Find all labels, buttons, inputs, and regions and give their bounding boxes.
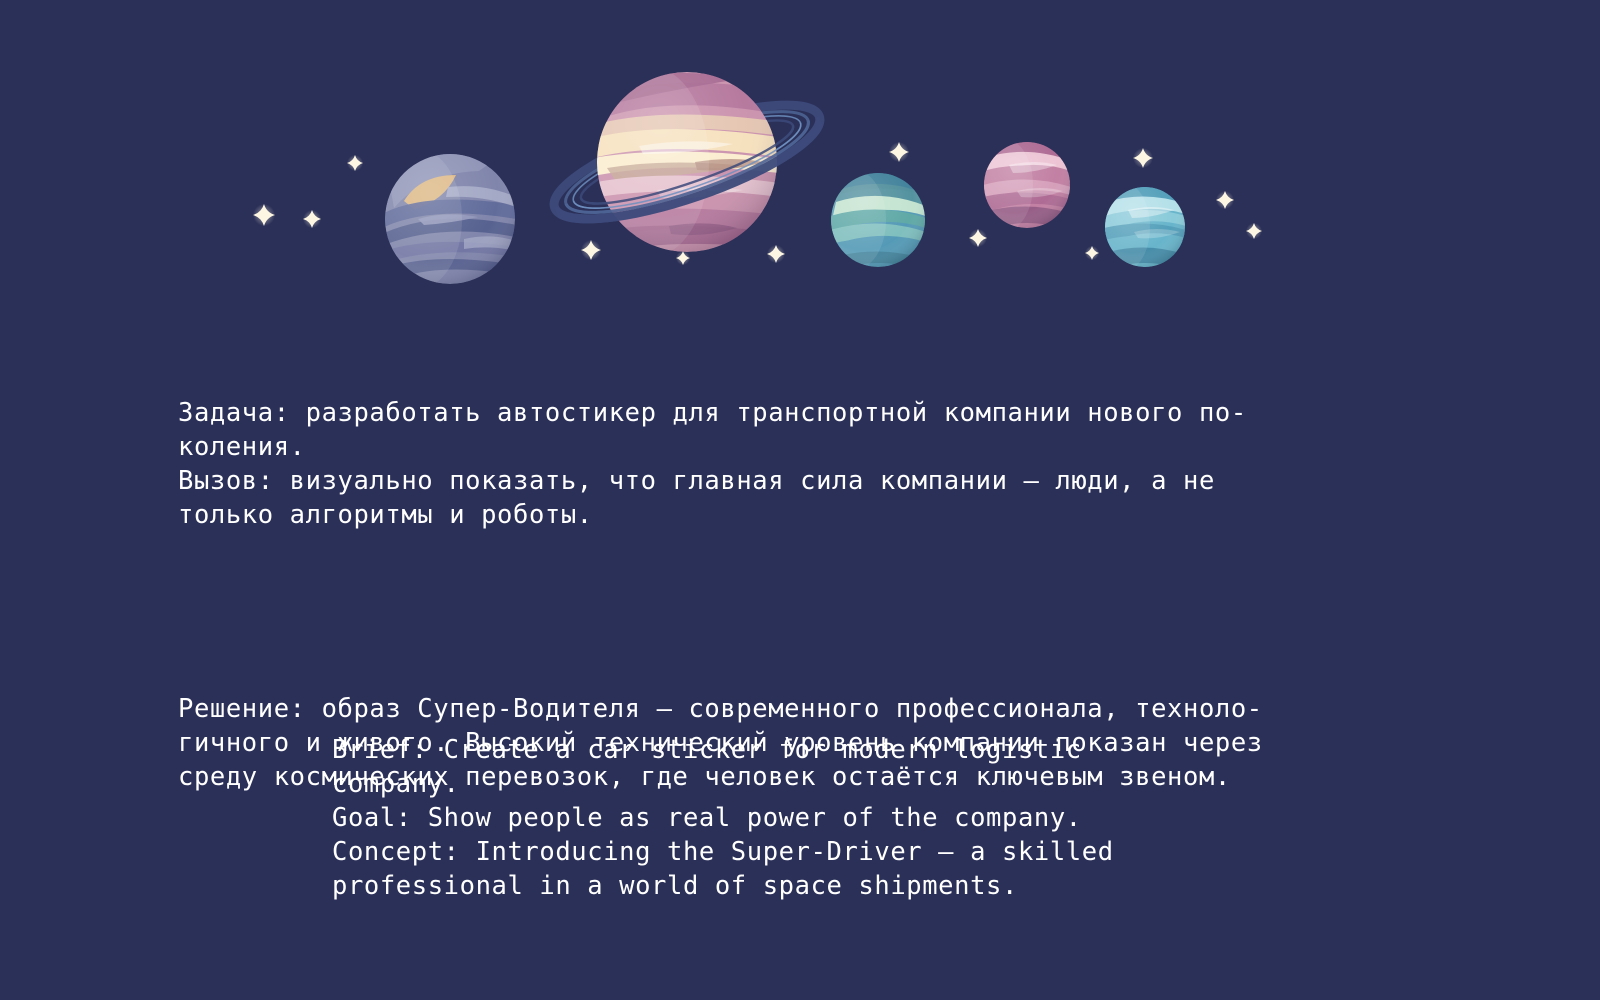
paragraph-spacer: [178, 600, 1408, 624]
star-sparkle-icon: [1085, 246, 1099, 260]
planet-blue-grey-banded: [384, 153, 516, 285]
planet-large-ringed-pink: [547, 62, 827, 282]
star-sparkle-icon: [1246, 223, 1262, 239]
planet-teal-banded: [830, 172, 926, 268]
star-sparkle-icon: [347, 155, 363, 171]
star-sparkle-icon: [1216, 191, 1234, 209]
planet-pink-banded: [983, 141, 1071, 229]
english-text-block: Brief: Create a car sticker for modern l…: [332, 665, 1232, 971]
star-sparkle-icon: [889, 142, 909, 162]
english-paragraph-brief-goal-concept: Brief: Create a car sticker for modern l…: [332, 733, 1232, 903]
star-sparkle-icon: [969, 229, 987, 247]
star-sparkle-icon: [303, 210, 321, 228]
slide-canvas: Задача: разработать автостикер для транс…: [0, 0, 1600, 1000]
russian-paragraph-task-challenge: Задача: разработать автостикер для транс…: [178, 396, 1408, 532]
planet-cyan-banded: [1104, 186, 1186, 268]
star-sparkle-icon: [1133, 148, 1153, 168]
star-sparkle-icon: [253, 204, 275, 226]
space-illustration: [0, 0, 1600, 320]
